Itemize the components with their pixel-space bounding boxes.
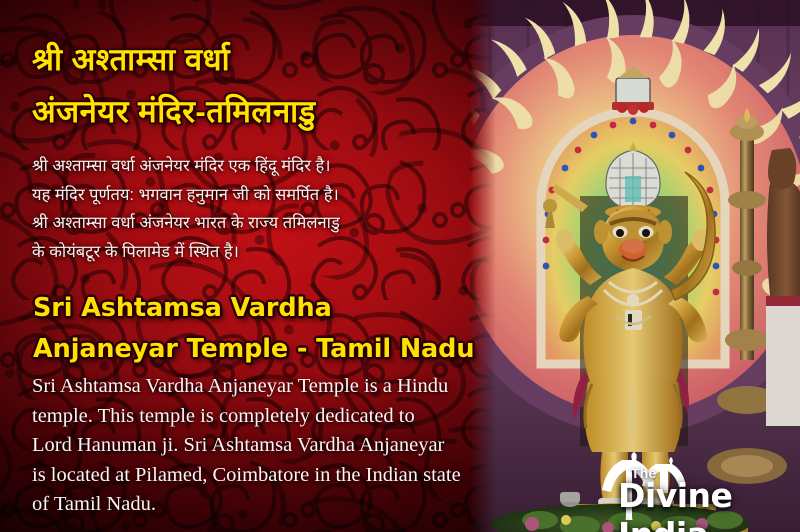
english-title-line-2: Anjaneyar Temple - Tamil Nadu (33, 329, 513, 370)
english-body-line-2: temple. This temple is completely dedica… (32, 402, 510, 432)
hindi-title-line-1: श्री अश्ताम्सा वर्धा (32, 34, 502, 86)
hindi-title-line-2: अंजनेयर मंदिर-तमिलनाडु (32, 86, 502, 138)
english-body-line-4: is located at Pilamed, Coimbatore in the… (32, 461, 510, 491)
english-title: Sri Ashtamsa Vardha Anjaneyar Temple - T… (33, 288, 513, 370)
english-body-line-5: of Tamil Nadu. (32, 490, 510, 520)
english-body-line-1: Sri Ashtamsa Vardha Anjaneyar Temple is … (32, 372, 510, 402)
poster: श्री अश्ताम्सा वर्धा अंजनेयर मंदिर-तमिलन… (0, 0, 800, 532)
hindi-title: श्री अश्ताम्सा वर्धा अंजनेयर मंदिर-तमिलन… (32, 34, 502, 138)
hindi-description: श्री अश्ताम्सा वर्धा अंजनेयर मंदिर एक हि… (32, 152, 507, 266)
english-description: Sri Ashtamsa Vardha Anjaneyar Temple is … (32, 372, 510, 520)
hindi-body-line-2: यह मंदिर पूर्णतय: भगवान हनुमान जी को समर… (32, 181, 507, 210)
divine-india-logo[interactable]: The Divine India (598, 446, 793, 520)
english-title-line-1: Sri Ashtamsa Vardha (33, 288, 513, 329)
text-panel: श्री अश्ताम्सा वर्धा अंजनेयर मंदिर-तमिलन… (0, 0, 520, 532)
hindi-body-line-1: श्री अश्ताम्सा वर्धा अंजनेयर मंदिर एक हि… (32, 152, 507, 181)
logo-name-text: Divine India (618, 476, 793, 532)
english-body-line-3: Lord Hanuman ji. Sri Ashtamsa Vardha Anj… (32, 431, 510, 461)
hindi-body-line-4: के कोयंबटूर के पिलामेड में स्थित है। (32, 238, 507, 267)
hindi-body-line-3: श्री अश्ताम्सा वर्धा अंजनेयर भारत के राज… (32, 209, 507, 238)
